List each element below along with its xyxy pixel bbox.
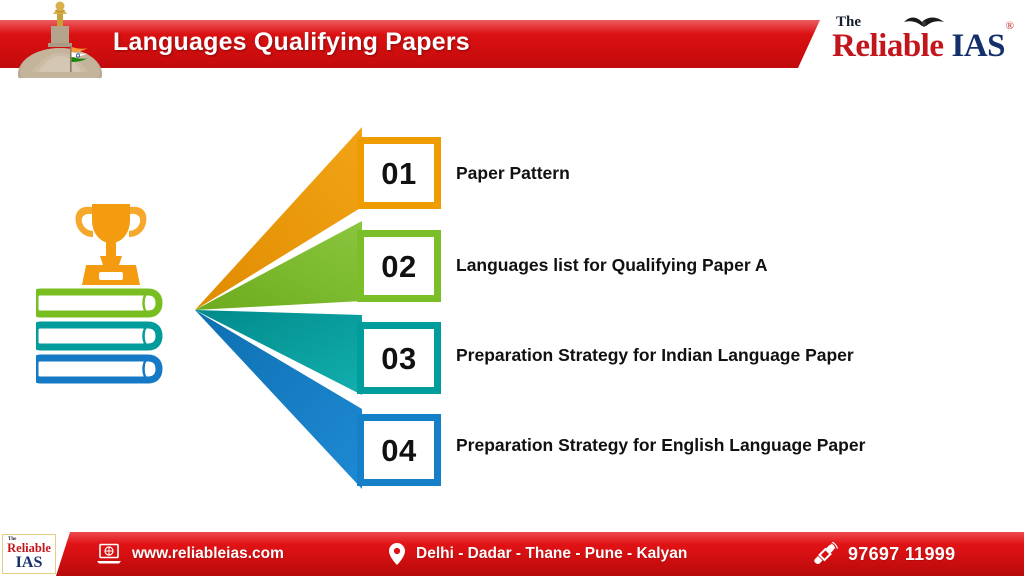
footer-locations: Delhi - Dadar - Thane - Pune - Kalyan <box>388 532 687 576</box>
logo-ias-text: IAS <box>951 28 1005 64</box>
stacked-books-icon <box>36 292 159 380</box>
page-title: Languages Qualifying Papers <box>113 28 470 57</box>
step-box-4[interactable]: 04 <box>357 414 441 486</box>
page-footer: The Reliable IAS www.reliableias.com Del… <box>0 532 1024 576</box>
phone-ringing-icon <box>812 542 838 566</box>
step-label-2: Languages list for Qualifying Paper A <box>456 257 768 275</box>
map-pin-icon <box>388 542 406 566</box>
step-number-1: 01 <box>381 158 416 189</box>
footer-website[interactable]: www.reliableias.com <box>96 532 284 576</box>
logo-wordmark: ReliableIAS <box>832 28 1005 65</box>
footer-phone[interactable]: 97697 11999 <box>812 532 955 576</box>
brand-logo[interactable]: The ReliableIAS ® <box>830 12 1016 70</box>
step-label-4: Preparation Strategy for English Languag… <box>456 437 865 455</box>
footer-website-text: www.reliableias.com <box>132 545 284 563</box>
registered-mark: ® <box>1006 20 1014 32</box>
step-label-3: Preparation Strategy for Indian Language… <box>456 347 854 365</box>
step-box-3[interactable]: 03 <box>357 322 441 394</box>
footer-phone-number: 97697 11999 <box>848 544 955 565</box>
step-number-2: 02 <box>381 251 416 282</box>
step-box-2[interactable]: 02 <box>357 230 441 302</box>
step-number-4: 04 <box>381 435 416 466</box>
footer-locations-text: Delhi - Dadar - Thane - Pune - Kalyan <box>416 545 687 563</box>
step-number-3: 03 <box>381 343 416 374</box>
trophy-and-books-graphic <box>36 196 186 401</box>
step-label-1: Paper Pattern <box>456 165 570 183</box>
laptop-icon <box>96 543 122 565</box>
step-box-1[interactable]: 01 <box>357 137 441 209</box>
logo-reliable-text: Reliable <box>832 28 943 64</box>
india-parliament-dome-icon <box>12 0 108 78</box>
footer-brand-logo[interactable]: The Reliable IAS <box>2 534 56 574</box>
footer-logo-ias-text: IAS <box>16 555 43 571</box>
trophy-icon <box>76 204 147 285</box>
